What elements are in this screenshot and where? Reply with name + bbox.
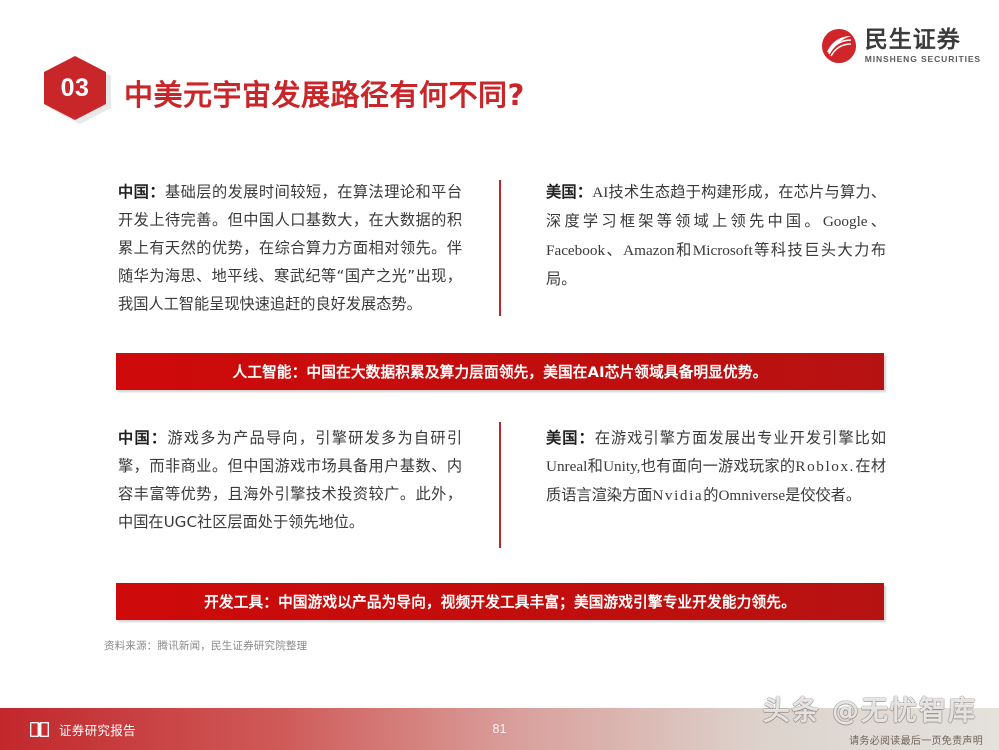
slide-canvas: 03 中美元宇宙发展路径有何不同? 民生证券 MINSHENG SECURITI… [0,0,999,750]
us-body-tools-10: Omniverse [718,487,785,504]
us-body-tools-8: Nvidia [652,487,703,504]
summary-banner-ai: 人工智能：中国在大数据积累及算力层面领先，美国在AI芯片领域具备明显优势。 [116,353,884,390]
us-body-tools-2: Unreal [546,458,587,475]
china-text-ai: 中国：基础层的发展时间较短，在算法理论和平台开发上待完善。但中国人口基数大，在大… [118,178,462,318]
column-divider-ai [499,180,501,316]
source-note: 资料来源：腾讯新闻，民生证券研究院整理 [104,638,307,653]
summary-banner-ai-label: 人工智能：中国在大数据积累及算力层面领先，美国在AI芯片领域具备明显优势。 [233,361,768,382]
column-divider-tools [499,422,501,548]
us-body-tools-4: Unity, [603,458,640,475]
china-text-tools: 中国：游戏多为产品导向，引擎研发多为自研引擎，而非商业。但中国游戏市场具备用户基… [118,424,462,536]
us-body-tools-5: 也有面向一游戏玩家的 [640,457,795,475]
brand-text: 民生证券 MINSHENG SECURITIES [865,28,981,64]
brand-name-en: MINSHENG SECURITIES [865,54,981,64]
brand-name-cn: 民生证券 [865,28,961,52]
us-body-ai-4: 和 [675,241,693,259]
minsheng-logo-icon [822,29,856,63]
page-title: 中美元宇宙发展路径有何不同? [124,72,525,114]
us-body-tools-3: 和 [587,457,603,475]
us-label-ai: 美国： [546,183,592,201]
china-body-tools: 游戏多为产品导向，引擎研发多为自研引擎，而非商业。但中国游戏市场具备用户基数、内… [118,429,462,531]
us-text-ai: 美国：AI技术生态趋于构建形成，在芯片与算力、深度学习框架等领域上领先中国。Go… [546,178,886,293]
footer-bar: 证券研究报告 81 请务必阅读最后一页免责声明 [0,708,999,750]
us-text-tools: 美国：在游戏引擎方面发展出专业开发引擎比如Unreal和Unity,也有面向一游… [546,424,886,510]
china-label-ai: 中国： [118,183,165,201]
us-body-tools-9: 的 [703,486,718,504]
brand-logo: 民生证券 MINSHENG SECURITIES [822,28,981,64]
us-label-tools: 美国： [546,429,595,447]
us-body-tools-6: Roblox. [795,458,855,475]
section-number-badge: 03 [44,56,110,124]
china-body-ai: 基础层的发展时间较短，在算法理论和平台开发上待完善。但中国人口基数大，在大数据的… [118,183,462,313]
footer-disclaimer: 请务必阅读最后一页免责声明 [849,732,983,747]
section-number-label: 03 [61,76,90,101]
us-body-ai-5: Microsoft [693,242,753,259]
us-body-tools-1: 在游戏引擎方面发展出专业开发引擎比如 [595,429,886,447]
summary-banner-tools: 开发工具：中国游戏以产品为导向，视频开发工具丰富；美国游戏引擎专业开发能力领先。 [116,583,884,620]
us-body-tools-11: 是佼佼者。 [785,486,861,504]
china-label-tools: 中国： [118,429,167,447]
us-body-ai-1: AI [592,184,608,201]
summary-banner-tools-label: 开发工具：中国游戏以产品为导向，视频开发工具丰富；美国游戏引擎专业开发能力领先。 [204,591,796,612]
